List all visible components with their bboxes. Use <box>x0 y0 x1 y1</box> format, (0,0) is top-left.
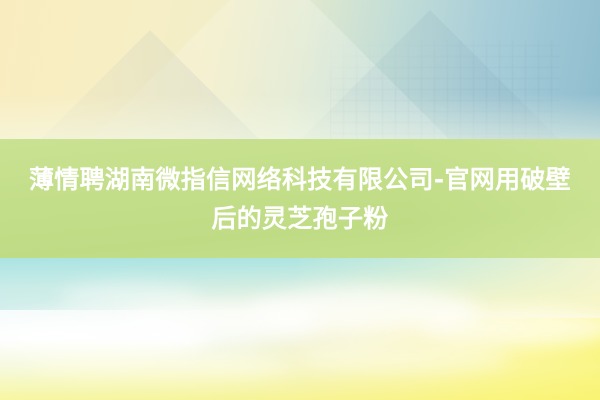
top-decorative-band <box>0 0 600 140</box>
top-haze-overlay <box>0 94 600 140</box>
banner-image: 薄情聘湖南微指信网络科技有限公司-官网用破壁后的灵芝孢子粉 <box>0 0 600 400</box>
bottom-sky-band <box>0 258 600 400</box>
cloud-icon <box>60 284 200 312</box>
page-title-line-1: 薄情聘湖南微指信网络科技有限公司-官网用破壁 <box>29 165 571 194</box>
title-banner: 薄情聘湖南微指信网络科技有限公司-官网用破壁后的灵芝孢子粉 <box>0 139 600 258</box>
page-title: 薄情聘湖南微指信网络科技有限公司-官网用破壁后的灵芝孢子粉 <box>12 160 588 238</box>
page-title-line-2: 后的灵芝孢子粉 <box>211 204 388 233</box>
bottom-glow-overlay <box>0 340 600 400</box>
